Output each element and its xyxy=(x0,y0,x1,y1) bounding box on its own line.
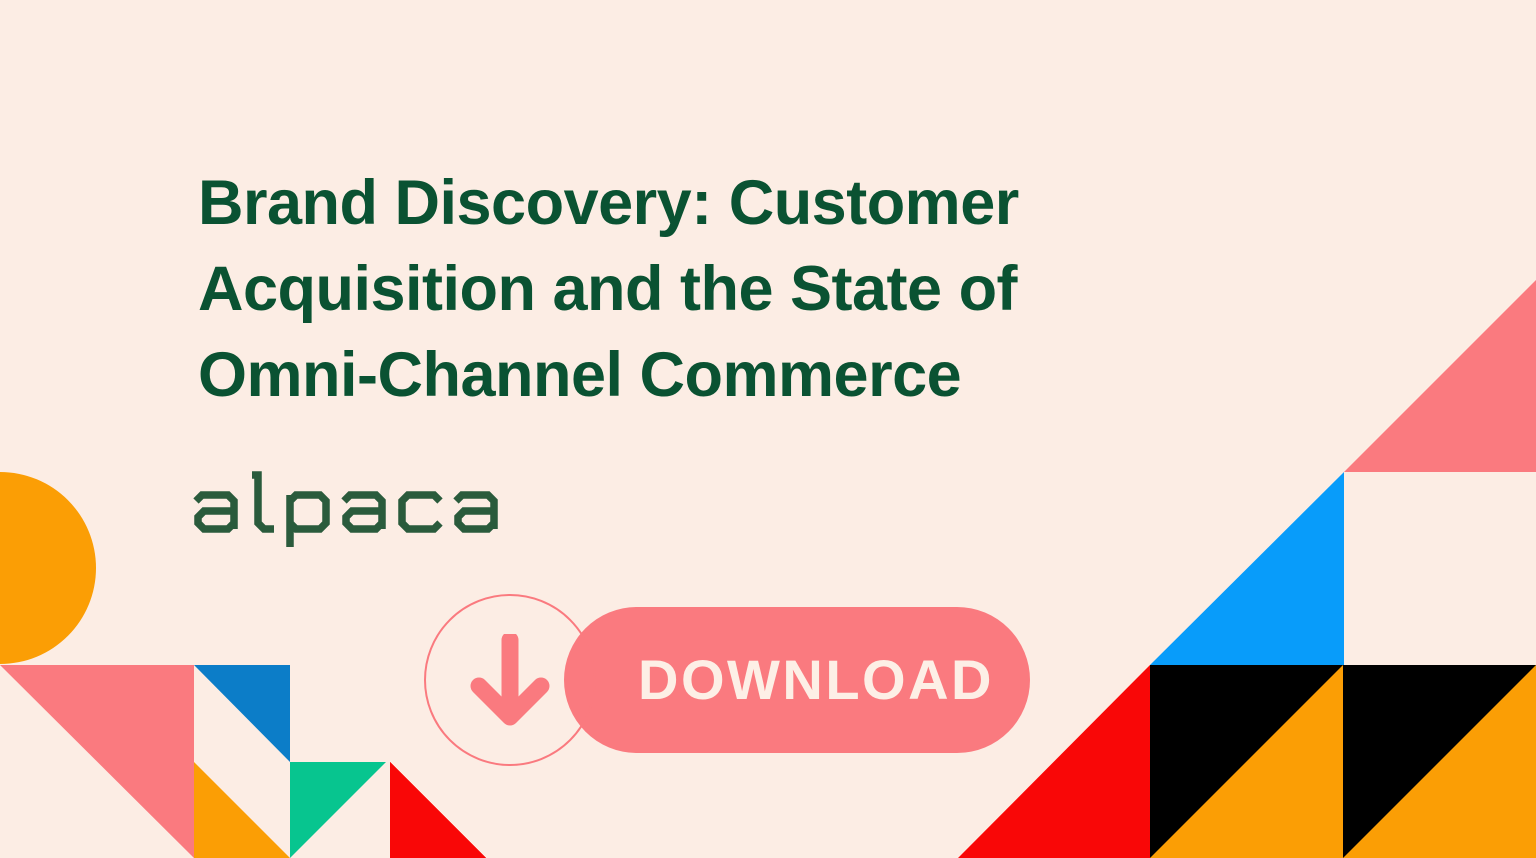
orange-semicircle-left xyxy=(0,472,96,664)
download-cta[interactable]: DOWNLOAD xyxy=(424,594,1030,766)
black-orange-square-1-black xyxy=(1150,665,1343,858)
download-button-label: DOWNLOAD xyxy=(638,652,1030,708)
brand-logo xyxy=(190,460,520,560)
teal-triangle-bottom-left xyxy=(290,762,386,858)
pink-triangle-top-right xyxy=(1344,280,1536,472)
red-triangle-bottom-left-top xyxy=(390,762,486,858)
download-arrow-icon xyxy=(467,634,553,726)
alpaca-wordmark-icon xyxy=(190,467,500,553)
blue-triangle-bottom-left xyxy=(194,665,290,762)
black-orange-square-2-black xyxy=(1343,665,1536,858)
pink-triangle-bottom-left xyxy=(0,665,194,858)
red-triangle-bottom-left-c xyxy=(390,762,486,858)
promo-banner: Brand Discovery: Customer Acquisition an… xyxy=(0,0,1536,858)
black-orange-square-2-bg xyxy=(1343,665,1536,858)
black-orange-square-1-bg xyxy=(1150,665,1343,858)
red-triangle-bottom-left xyxy=(390,762,486,858)
orange-triangle-bottom-left xyxy=(194,762,290,858)
red-triangle-bottom-left-b xyxy=(390,762,486,858)
blue-triangle-bottom-left-fill xyxy=(194,665,290,762)
red-triangle-bottom-left-final xyxy=(390,762,486,858)
blue-triangle-right xyxy=(1150,472,1344,665)
page-title: Brand Discovery: Customer Acquisition an… xyxy=(198,160,1198,418)
download-button[interactable]: DOWNLOAD xyxy=(564,607,1030,753)
download-badge-button[interactable] xyxy=(424,594,596,766)
red-triangle-bottom-left-shape xyxy=(390,762,486,858)
